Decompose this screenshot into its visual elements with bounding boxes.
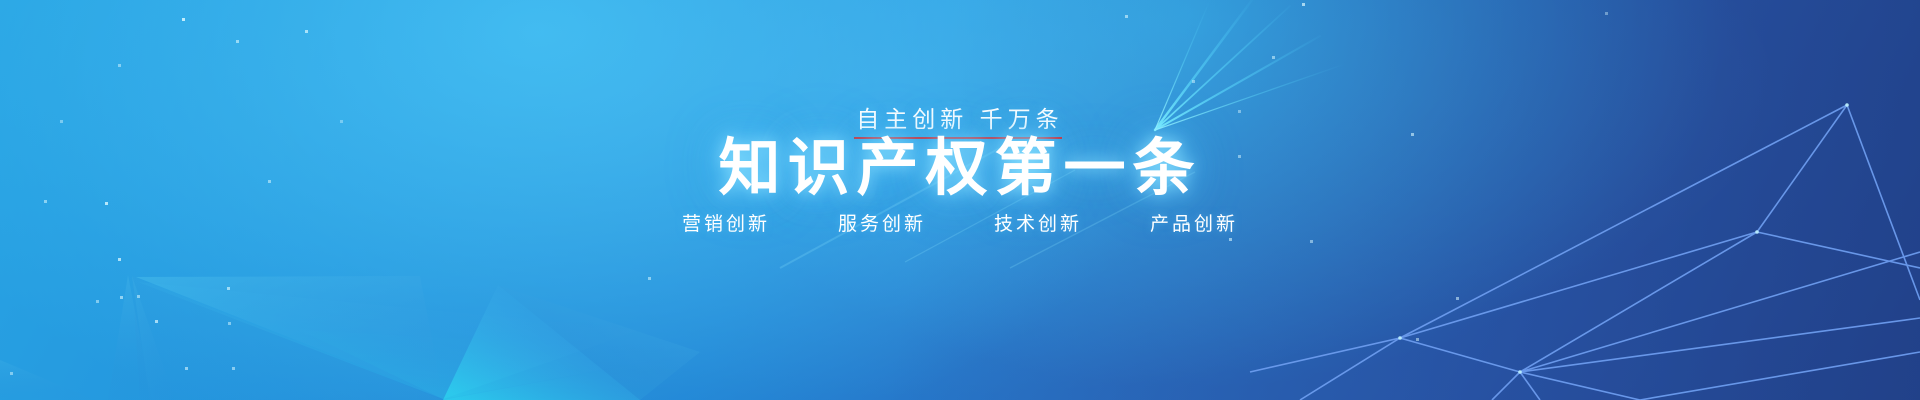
banner-content: 自主创新 千万条 知识产权第一条 营销创新 服务创新 技术创新 产品创新 (0, 0, 1920, 400)
promo-banner: 自主创新 千万条 知识产权第一条 营销创新 服务创新 技术创新 产品创新 (0, 0, 1920, 400)
banner-title: 知识产权第一条 (718, 133, 1201, 205)
keyword-service-innovation[interactable]: 服务创新 (838, 212, 926, 238)
title-container: 知识产权第一条 (0, 133, 1920, 205)
keyword-marketing-innovation[interactable]: 营销创新 (682, 212, 770, 238)
keyword-product-innovation[interactable]: 产品创新 (1150, 212, 1238, 238)
keyword-list: 营销创新 服务创新 技术创新 产品创新 (0, 212, 1920, 238)
keyword-technology-innovation[interactable]: 技术创新 (994, 212, 1082, 238)
